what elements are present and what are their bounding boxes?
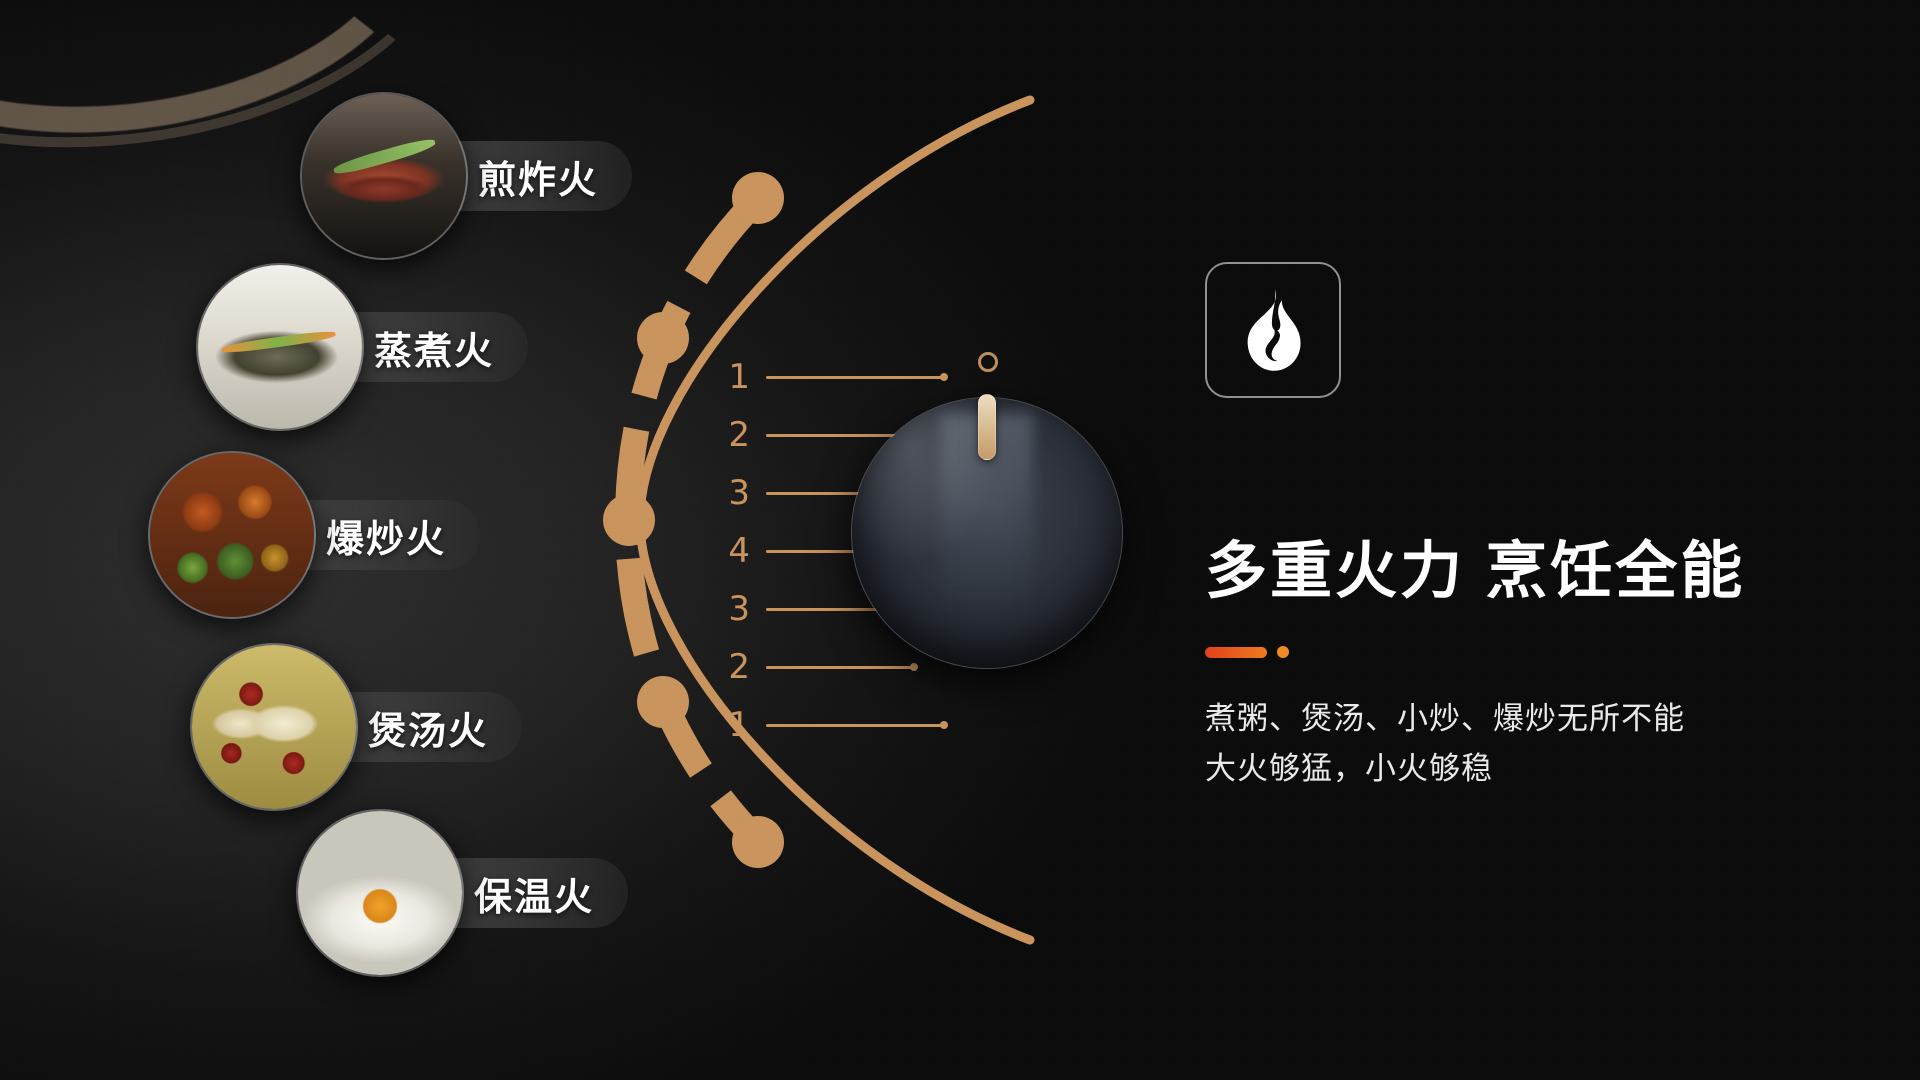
scale-number-5: 2 bbox=[716, 647, 750, 687]
chicken-soup-thumb bbox=[190, 643, 358, 811]
flame-icon bbox=[1237, 287, 1309, 373]
food-mode-item-2[interactable]: 爆炒火 bbox=[148, 500, 480, 570]
knob-top-marker-icon bbox=[978, 352, 998, 372]
description-block: 煮粥、煲汤、小炒、爆炒无所不能 大火够猛，小火够稳 bbox=[1205, 694, 1845, 794]
steamed-fish-thumb bbox=[196, 263, 364, 431]
egg-rice-thumb bbox=[296, 809, 464, 977]
fried-steak-thumb bbox=[300, 92, 468, 260]
scale-tick-0 bbox=[766, 376, 944, 379]
description-line-1: 煮粥、煲汤、小炒、爆炒无所不能 bbox=[1205, 694, 1845, 744]
divider-dot bbox=[1277, 646, 1289, 658]
promo-banner: 煎炸火 蒸煮火 爆炒火 煲汤火 保温火 bbox=[0, 0, 1920, 1080]
scale-tick-6 bbox=[766, 724, 944, 727]
scale-number-4: 3 bbox=[716, 589, 750, 629]
scale-row-0: 1 bbox=[716, 348, 966, 406]
scale-number-0: 1 bbox=[716, 357, 750, 397]
scale-tick-4 bbox=[766, 608, 882, 611]
description-line-2: 大火够猛，小火够稳 bbox=[1205, 744, 1845, 794]
scale-number-6: 1 bbox=[716, 705, 750, 745]
scale-row-6: 1 bbox=[716, 696, 966, 754]
scale-number-3: 4 bbox=[716, 531, 750, 571]
page-title: 多重火力 烹饪全能 bbox=[1205, 520, 1845, 610]
stir-fry-thumb bbox=[148, 451, 316, 619]
scale-tick-3 bbox=[766, 550, 862, 553]
food-mode-item-1[interactable]: 蒸煮火 bbox=[196, 312, 528, 382]
accent-divider bbox=[1205, 646, 1845, 658]
info-panel: 多重火力 烹饪全能 煮粥、煲汤、小炒、爆炒无所不能 大火够猛，小火够稳 bbox=[1205, 262, 1845, 794]
scale-number-1: 2 bbox=[716, 415, 750, 455]
food-mode-item-3[interactable]: 煲汤火 bbox=[190, 692, 522, 762]
scale-number-2: 3 bbox=[716, 473, 750, 513]
divider-bar bbox=[1205, 647, 1267, 658]
flame-badge bbox=[1205, 262, 1341, 398]
knob-pointer[interactable] bbox=[978, 394, 996, 460]
scale-tick-5 bbox=[766, 666, 914, 669]
